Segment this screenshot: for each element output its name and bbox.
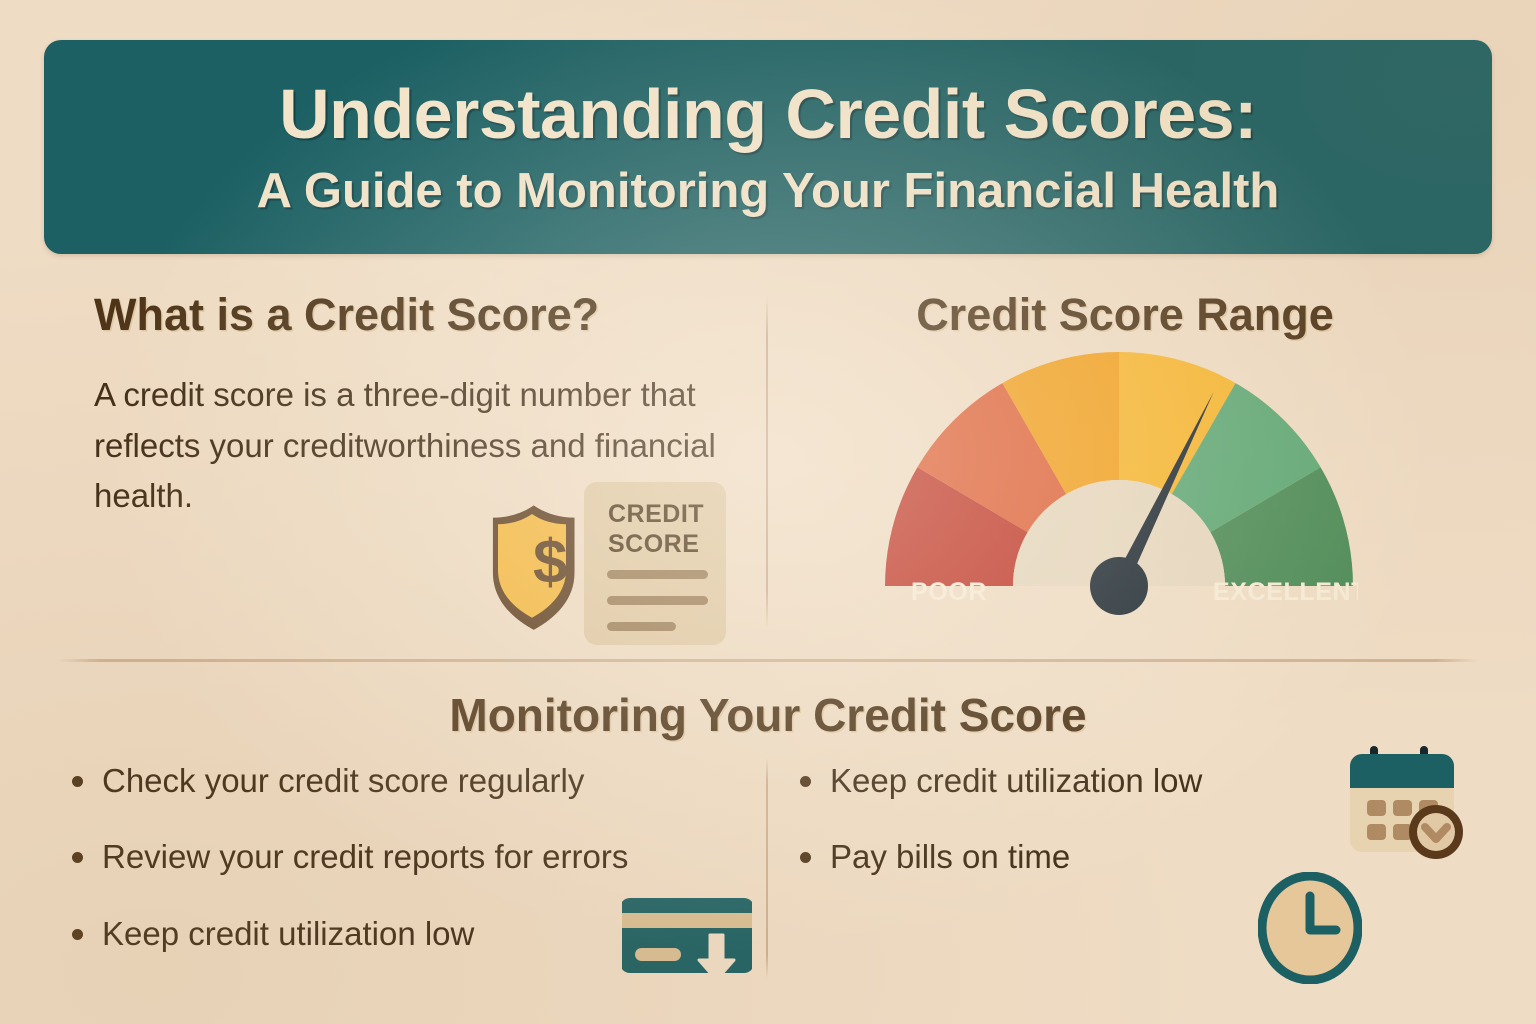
list-item: Check your credit score regularly xyxy=(72,760,762,801)
section-heading-range: Credit Score Range xyxy=(880,290,1370,340)
credit-score-document-icon: CREDIT SCORE $ xyxy=(480,480,726,645)
svg-text:SCORE: SCORE xyxy=(608,530,699,558)
calendar-check-icon xyxy=(1340,744,1472,864)
list-item-label: Review your credit reports for errors xyxy=(102,836,628,877)
horizontal-divider xyxy=(58,659,1478,662)
list-item-label: Keep credit utilization low xyxy=(102,913,474,954)
bullet-dot-icon xyxy=(72,929,83,940)
list-item-label: Check your credit score regularly xyxy=(102,760,584,801)
list-item: Review your credit reports for errors xyxy=(72,836,762,877)
credit-score-range-panel: Credit Score Range xyxy=(880,290,1480,340)
vertical-divider-bottom xyxy=(766,758,768,978)
vertical-divider-top xyxy=(766,296,768,630)
bullet-dot-icon xyxy=(800,852,811,863)
section-heading-what-is: What is a Credit Score? xyxy=(94,290,754,340)
section-heading-monitoring: Monitoring Your Credit Score xyxy=(449,688,1086,742)
bullet-dot-icon xyxy=(800,776,811,787)
clock-icon xyxy=(1258,872,1362,984)
gauge-label-poor: POOR xyxy=(911,578,987,606)
gauge-label-excellent: EXCELLENT xyxy=(1213,578,1358,606)
title-banner: Understanding Credit Scores: A Guide to … xyxy=(44,40,1492,254)
monitoring-section-title-wrap: Monitoring Your Credit Score xyxy=(0,688,1536,742)
bullet-dot-icon xyxy=(72,776,83,787)
page-subtitle: A Guide to Monitoring Your Financial Hea… xyxy=(257,167,1280,216)
page-title: Understanding Credit Scores: xyxy=(279,79,1257,149)
credit-score-gauge: POOR EXCELLENT xyxy=(880,348,1358,640)
bullet-dot-icon xyxy=(72,852,83,863)
list-item-label: Keep credit utilization low xyxy=(830,760,1202,801)
list-item-label: Pay bills on time xyxy=(830,836,1070,877)
list-item: Keep credit utilization low xyxy=(800,760,1360,801)
infographic-stage: Understanding Credit Scores: A Guide to … xyxy=(0,0,1536,1024)
svg-text:CREDIT: CREDIT xyxy=(608,500,704,528)
credit-card-down-arrow-icon xyxy=(622,888,752,983)
gauge-hub xyxy=(1090,557,1148,615)
svg-text:$: $ xyxy=(533,528,567,597)
